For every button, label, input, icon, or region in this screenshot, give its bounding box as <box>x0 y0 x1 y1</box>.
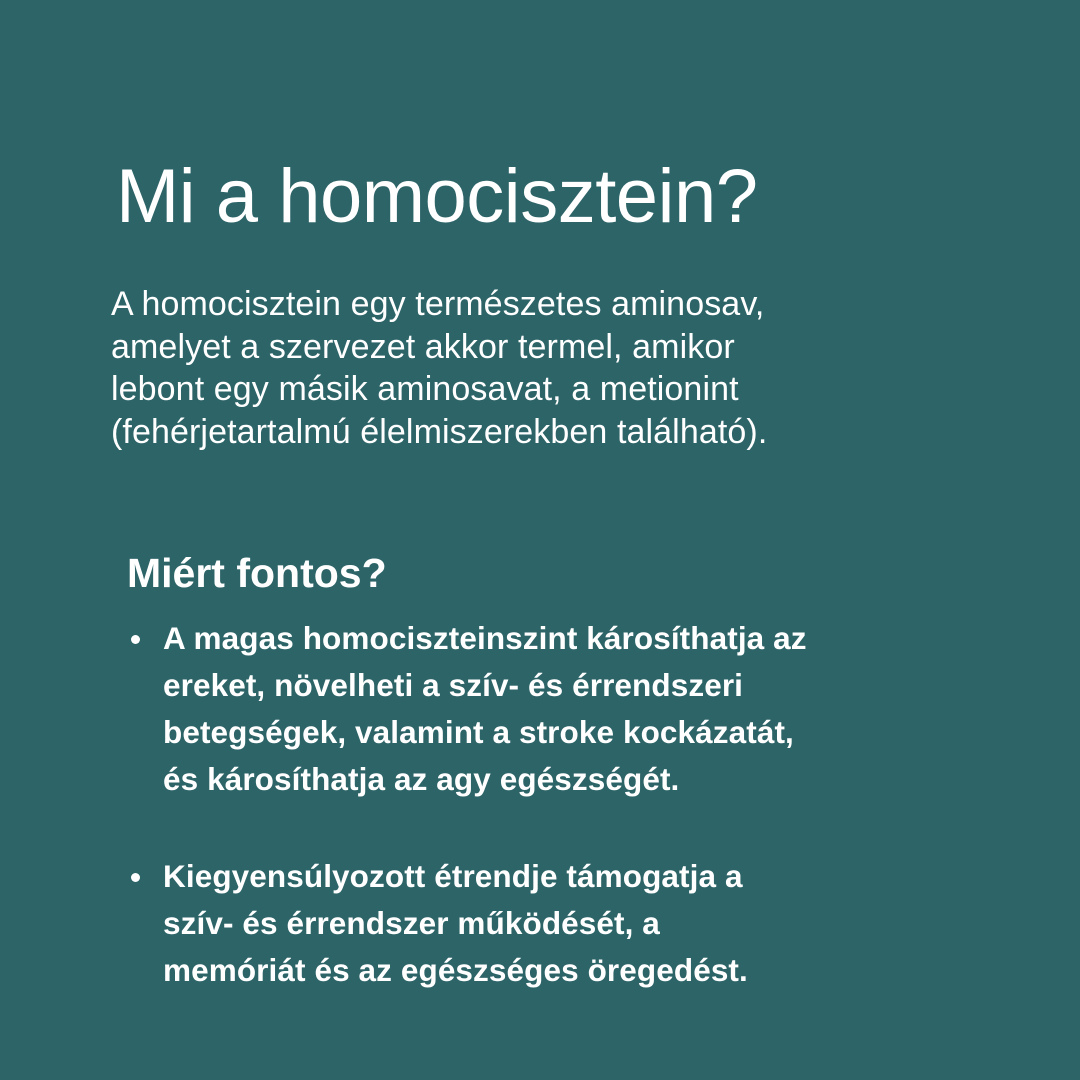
slide-canvas: Mi a homocisztein? A homocisztein egy te… <box>0 0 1080 1080</box>
list-item-line: A magas homociszteinszint károsíthatja a… <box>163 615 998 662</box>
intro-line: lebont egy másik aminosavat, a metionint <box>111 368 991 411</box>
bullet-dot-icon <box>131 635 140 644</box>
intro-line: amelyet a szervezet akkor termel, amikor <box>111 326 991 369</box>
list-item: A magas homociszteinszint károsíthatja a… <box>128 615 998 803</box>
list-item-text: Kiegyensúlyozott étrendje támogatja a sz… <box>163 853 998 994</box>
benefits-bullet-list: A magas homociszteinszint károsíthatja a… <box>128 615 998 994</box>
page-title: Mi a homocisztein? <box>116 159 1016 235</box>
list-item-line: és károsíthatja az agy egészségét. <box>163 756 998 803</box>
intro-paragraph: A homocisztein egy természetes aminosav,… <box>111 283 991 453</box>
list-item-line: betegségek, valamint a stroke kockázatát… <box>163 709 998 756</box>
section-subheading: Miért fontos? <box>127 550 387 597</box>
list-item-line: Kiegyensúlyozott étrendje támogatja a <box>163 853 998 900</box>
intro-line: (fehérjetartalmú élelmiszerekben találha… <box>111 411 991 454</box>
list-item-line: memóriát és az egészséges öregedést. <box>163 947 998 994</box>
bullet-dot-icon <box>131 873 140 882</box>
list-item-text: A magas homociszteinszint károsíthatja a… <box>163 615 998 803</box>
list-item-line: ereket, növelheti a szív- és érrendszeri <box>163 662 998 709</box>
intro-line: A homocisztein egy természetes aminosav, <box>111 283 991 326</box>
list-item: Kiegyensúlyozott étrendje támogatja a sz… <box>128 853 998 994</box>
list-item-line: szív- és érrendszer működését, a <box>163 900 998 947</box>
